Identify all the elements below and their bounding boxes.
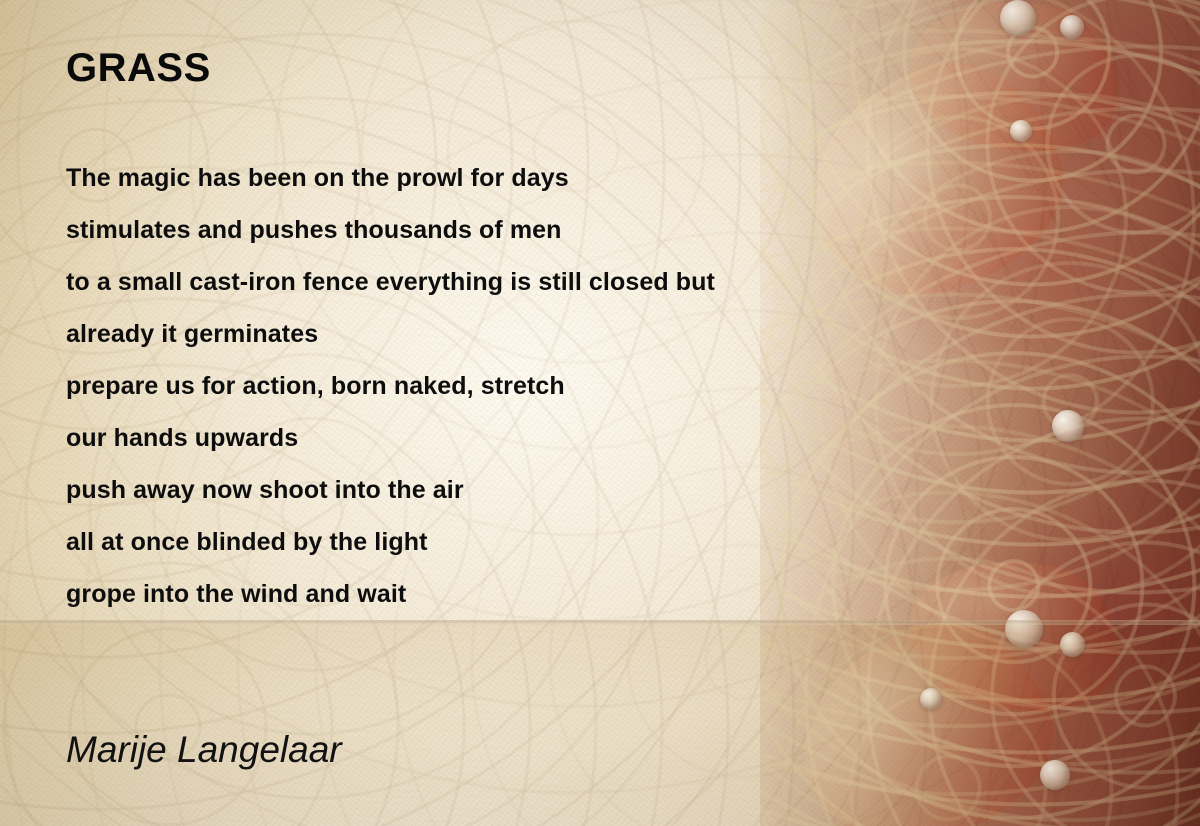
poem-line: already it germinates (66, 308, 1066, 360)
poem-line: push away now shoot into the air (66, 464, 1066, 516)
poem-line: grope into the wind and wait (66, 568, 1066, 620)
poem-line: The magic has been on the prowl for days (66, 152, 1066, 204)
poem-line: prepare us for action, born naked, stret… (66, 360, 1066, 412)
poem-line: stimulates and pushes thousands of men (66, 204, 1066, 256)
poem-line: to a small cast-iron fence everything is… (66, 256, 1066, 308)
poem-card: GRASS The magic has been on the prowl fo… (0, 0, 1200, 826)
poem-line: our hands upwards (66, 412, 1066, 464)
poem-title: GRASS (66, 48, 211, 88)
poem-line: all at once blinded by the light (66, 516, 1066, 568)
poem-content: GRASS The magic has been on the prowl fo… (0, 0, 1200, 826)
poem-author: Marije Langelaar (66, 728, 342, 772)
poem-body: The magic has been on the prowl for days… (66, 152, 1066, 620)
